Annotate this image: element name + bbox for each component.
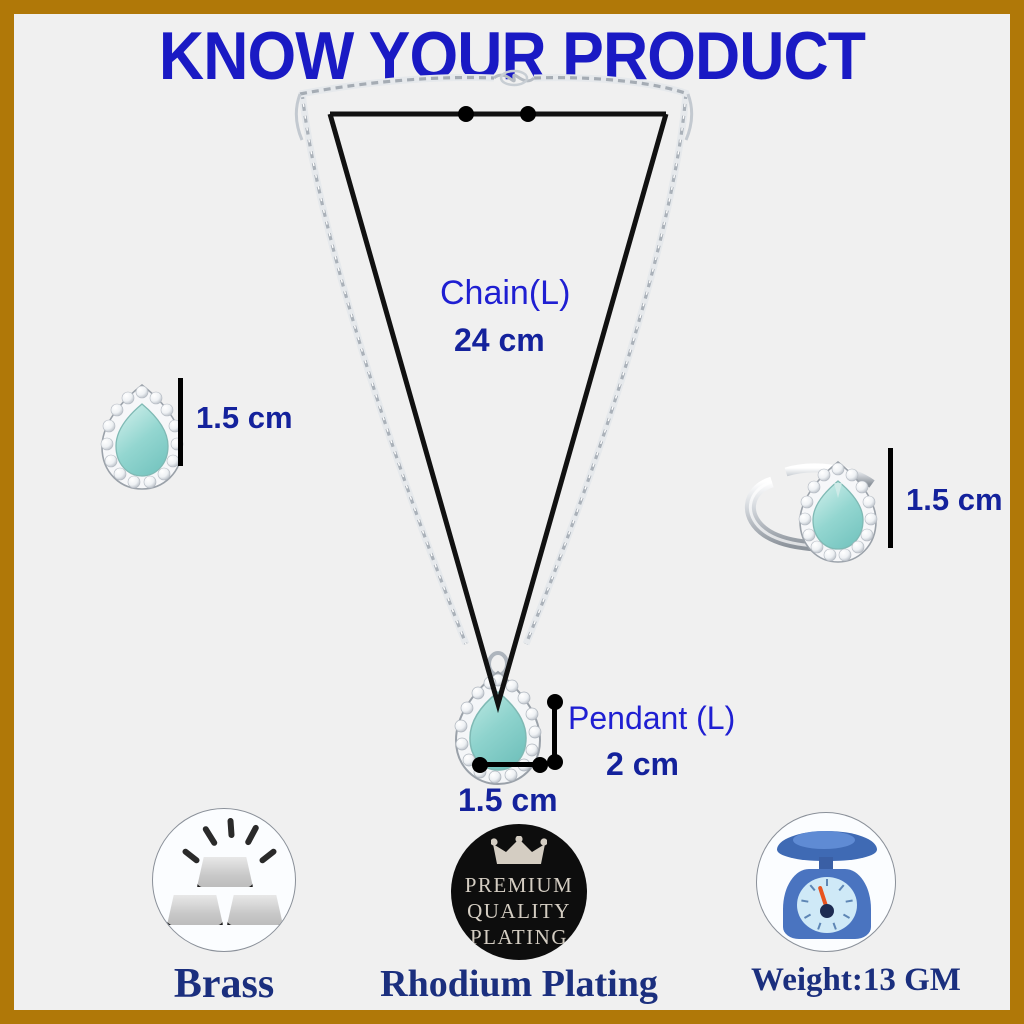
crown-icon [491,836,547,866]
badge-line-2: QUALITY [451,898,587,924]
pendant-width-value: 1.5 cm [458,782,558,819]
metal-ingots-icon [152,808,296,952]
pendant-width-dot-left [472,757,488,773]
pendant-length-value: 2 cm [606,746,679,783]
pendant-length-dot-top [547,694,563,710]
feature-label-brass: Brass [134,960,314,1008]
ring-illustration [742,434,932,584]
chain-length-value: 24 cm [454,322,545,359]
feature-label-plating: Rhodium Plating [354,962,684,1006]
pendant-width-dot-right [532,757,548,773]
chain-measure-dot-left [458,106,474,122]
badge-line-1: PREMIUM [451,872,587,898]
badge-line-3: PLATING [451,924,587,950]
ring-measure-bar [888,448,893,548]
chain-measure-dot-right [520,106,536,122]
weighing-scale-icon [756,812,896,952]
earring-measure-bar [178,378,183,466]
earring-measure-value: 1.5 cm [196,400,293,436]
infographic-canvas: KNOW YOUR PRODUCT [14,14,1010,1010]
pendant-length-dot-bottom [547,754,563,770]
premium-quality-crown-badge-icon: PREMIUM QUALITY PLATING [451,824,587,960]
infographic-page: KNOW YOUR PRODUCT [0,0,1024,1024]
ring-measure-value: 1.5 cm [906,482,1003,518]
earring-illustration [76,369,216,499]
pendant-length-label: Pendant (L) [568,700,735,737]
chain-length-label: Chain(L) [440,274,570,313]
feature-label-weight: Weight:13 GM [716,962,996,999]
